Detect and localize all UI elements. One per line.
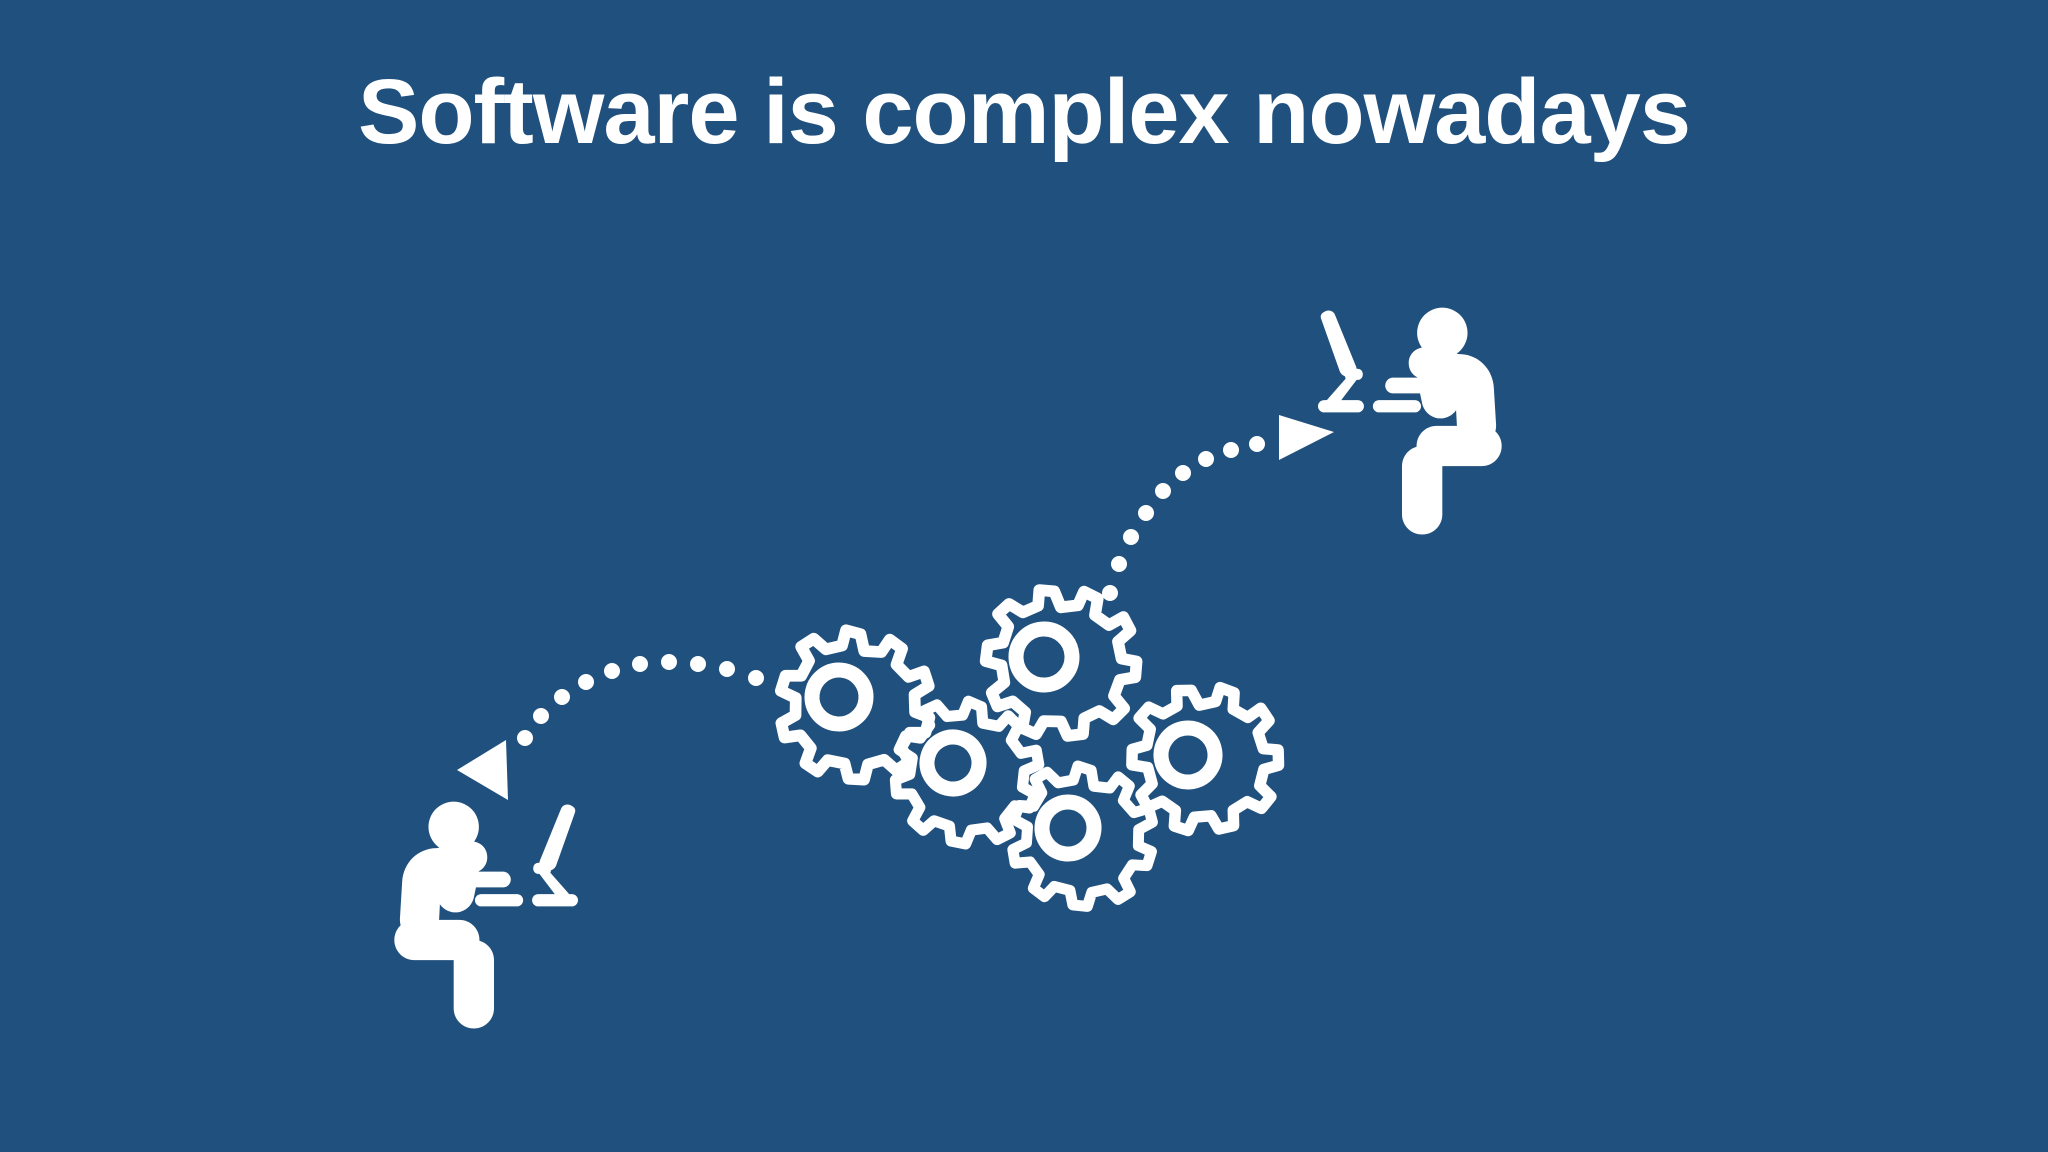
diagram-svg bbox=[0, 0, 2048, 1152]
arrowhead-triangle-right bbox=[1279, 415, 1334, 460]
dotted-path-down-left bbox=[517, 654, 764, 746]
arrow-gears-to-person-bottom-left bbox=[457, 654, 764, 800]
slide-canvas: Software is complex nowadays bbox=[0, 0, 2048, 1152]
person-at-computer-icon-top-right bbox=[1318, 308, 1502, 535]
dotted-path-up-right bbox=[1102, 436, 1265, 601]
arrowhead-triangle-left bbox=[457, 740, 508, 800]
arrow-gears-to-person-top-right bbox=[1102, 415, 1334, 601]
person-at-computer-icon-bottom-left bbox=[394, 802, 578, 1029]
diagram-illustration bbox=[0, 0, 2048, 1152]
gears-icon bbox=[772, 584, 1289, 916]
